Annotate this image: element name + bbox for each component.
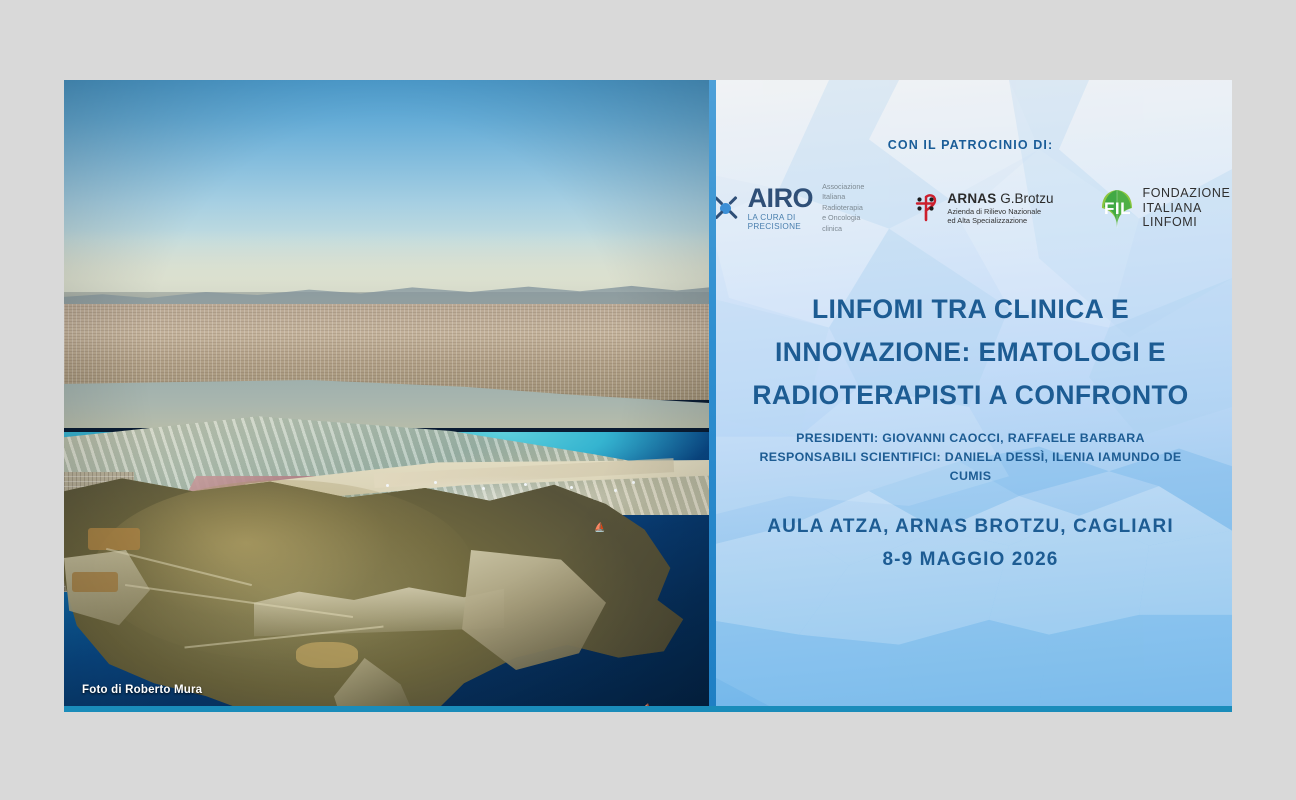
airo-desc-line-2: Radioterapia: [822, 203, 864, 213]
airo-wordmark: AIRO LA CURA DI PRECISIONE: [748, 185, 814, 230]
arnas-wordmark: ARNAS G.Brotzu Azienda di Rilievo Nazion…: [947, 192, 1053, 225]
fil-name-line-1: FONDAZIONE: [1142, 186, 1230, 201]
airo-desc-line-3: e Oncologia clinica: [822, 213, 864, 234]
arnas-name-light: G.Brotzu: [1000, 191, 1053, 206]
fil-name-line-2: ITALIANA: [1142, 201, 1230, 216]
event-venue: AULA ATZA, ARNAS BROTZU, CAGLIARI: [743, 511, 1198, 543]
sponsor-logo-airo: AIRO LA CURA DI PRECISIONE Associazione …: [711, 182, 865, 234]
poster-photo: ⛵ ⛵ Foto di Roberto Mura: [64, 80, 709, 706]
event-title-line-1: LINFOMI TRA CLINICA E: [743, 288, 1198, 331]
arnas-desc-line-2: ed Alta Specializzazione: [947, 217, 1053, 225]
arnas-name-bold: ARNAS: [947, 191, 996, 206]
event-venue-date: AULA ATZA, ARNAS BROTZU, CAGLIARI 8-9 MA…: [743, 511, 1198, 576]
event-title-line-2: INNOVAZIONE: EMATOLOGI E: [743, 331, 1198, 374]
event-title: LINFOMI TRA CLINICA E INNOVAZIONE: EMATO…: [743, 288, 1198, 417]
sponsor-logos-row: AIRO LA CURA DI PRECISIONE Associazione …: [743, 182, 1198, 234]
event-poster: ⛵ ⛵ Foto di Roberto Mura: [64, 80, 1232, 712]
photo-credit: Foto di Roberto Mura: [82, 684, 202, 696]
airo-name: AIRO: [748, 185, 814, 212]
event-date: 8-9 MAGGIO 2026: [743, 544, 1198, 576]
fil-wordmark: FONDAZIONE ITALIANA LINFOMI: [1142, 186, 1230, 230]
arnas-name: ARNAS G.Brotzu: [947, 192, 1053, 207]
arnas-cross-heart-icon: [910, 193, 940, 223]
event-title-line-3: RADIOTERAPISTI A CONFRONTO: [743, 374, 1198, 417]
airo-description: Associazione Italiana Radioterapia e Onc…: [820, 182, 864, 234]
fil-mark-text: FIL: [1099, 199, 1135, 219]
sponsor-logo-fil: FIL FONDAZIONE ITALIANA LINFOMI: [1099, 186, 1230, 230]
fil-name-line-3: LINFOMI: [1142, 215, 1230, 230]
poster-info-content: CON IL PATROCINIO DI: AIRO LA CURA DI PR…: [709, 80, 1232, 706]
fil-leaf-icon: FIL: [1099, 188, 1135, 228]
event-presidents: PRESIDENTI: GIOVANNI CAOCCI, RAFFAELE BA…: [743, 429, 1198, 448]
airo-tagline: LA CURA DI PRECISIONE: [748, 214, 814, 230]
panel-left-edge: [709, 80, 716, 706]
event-scientific-leads: RESPONSABILI SCIENTIFICI: DANIELA DESSÌ,…: [743, 448, 1198, 486]
photo-vignette: [64, 80, 709, 706]
event-chairs: PRESIDENTI: GIOVANNI CAOCCI, RAFFAELE BA…: [743, 429, 1198, 486]
poster-info-panel: CON IL PATROCINIO DI: AIRO LA CURA DI PR…: [709, 80, 1232, 706]
sponsor-logo-arnas: ARNAS G.Brotzu Azienda di Rilievo Nazion…: [910, 192, 1053, 225]
airo-desc-line-1: Associazione Italiana: [822, 182, 864, 203]
patronage-label: CON IL PATROCINIO DI:: [743, 138, 1198, 152]
